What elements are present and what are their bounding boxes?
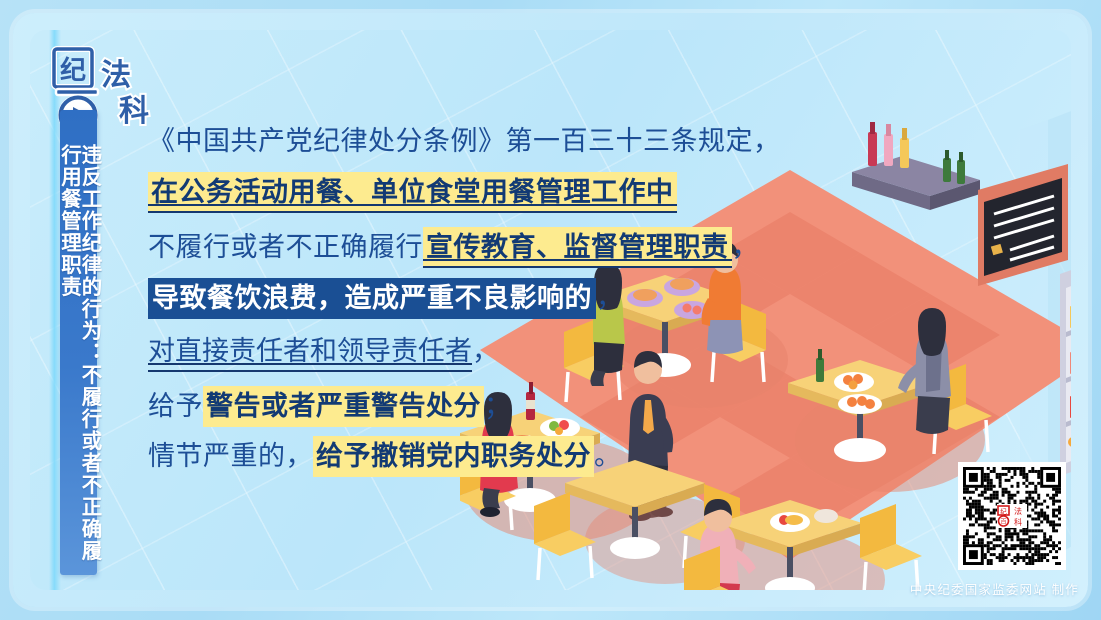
svg-text:纪: 纪 [1000,507,1007,516]
line-7-seg-2: 给予撤销党内职务处分 [313,436,594,477]
line-3-seg-1: 不履行或者不正确履行 [148,232,423,262]
line-7-seg-3: 。 [594,441,622,471]
text-line-1: 《中国共产党纪律处分条例》第一百三十三条规定， [148,128,768,155]
svg-text:百: 百 [1000,519,1006,526]
line-4-seg-2: ， [596,283,624,313]
logo-char-ji: 纪 [54,49,92,87]
line-6-seg-2: 警告或者严重警告处分 [203,386,484,427]
text-line-4: 导致餐饮浪费，造成严重不良影响的， [148,285,768,312]
line-5-seg-1: 对直接责任者和领导责任者 [148,336,472,366]
regulation-text-block: 《中国共产党纪律处分条例》第一百三十三条规定， 在公务活动用餐、单位食堂用餐管理… [148,128,768,470]
text-line-2: 在公务活动用餐、单位食堂用餐管理工作中 [148,179,768,206]
line-7-seg-1: 情节严重的， [148,441,313,471]
line-5-seg-2: ， [472,336,500,366]
line-3-seg-2: 宣传教育、监督管理职责 [423,227,732,268]
svg-text:科: 科 [1014,517,1022,527]
svg-text:法: 法 [1014,506,1022,516]
logo-char-ke: 科 [119,95,149,128]
line-1-seg-1: 《中国共产党纪律处分条例》第一百三十三条规定， [148,126,781,156]
line-3-seg-3: ， [732,232,760,262]
svg-text:纪: 纪 [60,55,86,85]
line-6-seg-3: ； [484,391,512,421]
line-2-seg-1: 在公务活动用餐、单位食堂用餐管理工作中 [148,172,677,213]
svg-text:法: 法 [101,59,131,92]
logo-char-bai [56,89,98,95]
qr-code[interactable]: 纪 百 法 科 [958,462,1066,570]
qr-center-logo: 纪 百 法 科 [997,504,1027,528]
vertical-title-text: 违反工作纪律的行为：不履行或者不正确履行用餐管理职责 [58,144,99,575]
poster: 纪 法 科 违反工作纪律的行为：不履行或者不正确履行用餐管理职责 《中国共产党纪… [0,0,1101,620]
logo-char-fa: 法 [101,59,131,92]
line-6-seg-1: 给予 [148,391,203,421]
vertical-title-banner: 违反工作纪律的行为：不履行或者不正确履行用餐管理职责 [60,110,97,575]
text-line-3: 不履行或者不正确履行宣传教育、监督管理职责， [148,234,768,261]
svg-text:科: 科 [119,95,149,128]
text-line-5: 对直接责任者和领导责任者， [148,338,768,365]
line-4-seg-1: 导致餐饮浪费，造成严重不良影响的 [148,278,596,319]
credit-text: 中央纪委国家监委网站 制作 [910,579,1079,598]
text-line-7: 情节严重的，给予撤销党内职务处分。 [148,443,768,470]
text-line-6: 给予警告或者严重警告处分； [148,393,768,420]
